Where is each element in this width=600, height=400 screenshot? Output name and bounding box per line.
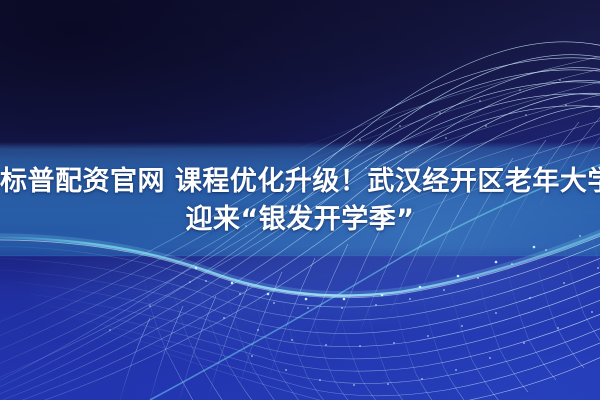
headline-line-1: 标普配资官网 课程优化升级！武汉经开区老年大学 — [0, 163, 600, 201]
headline-line-2: 迎来“银发开学季” — [0, 201, 600, 239]
headline-text: 标普配资官网 课程优化升级！武汉经开区老年大学 迎来“银发开学季” — [0, 163, 600, 239]
headline-band-edge — [0, 255, 600, 257]
news-banner: 标普配资官网 课程优化升级！武汉经开区老年大学 迎来“银发开学季” — [0, 0, 600, 400]
